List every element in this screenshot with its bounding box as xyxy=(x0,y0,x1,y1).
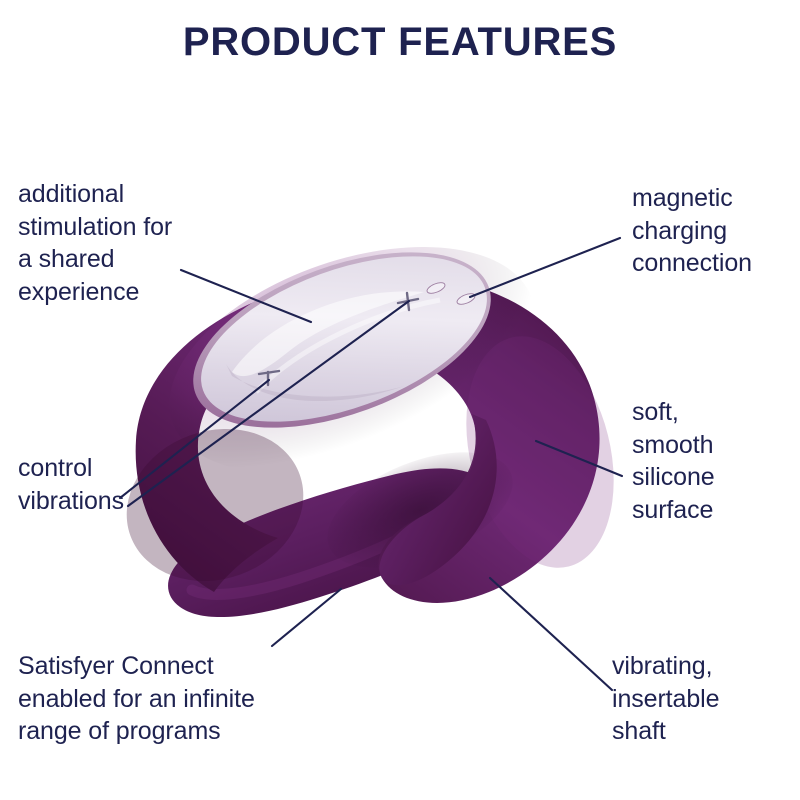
leader-additional-stimulation xyxy=(181,270,311,322)
callout-line: range of programs xyxy=(18,715,255,748)
callout-line: soft, xyxy=(632,396,715,429)
panel-glare-line xyxy=(256,300,440,392)
magnetic-charging-pins xyxy=(426,281,477,307)
ring-arm xyxy=(379,414,496,585)
leader-satisfyer-connect xyxy=(272,589,341,646)
page-title: PRODUCT FEATURES xyxy=(0,20,800,64)
callout-line: a shared xyxy=(18,243,172,276)
callout-line: magnetic xyxy=(632,182,752,215)
ring-surface xyxy=(136,274,600,603)
panel-inner-shade xyxy=(226,364,404,401)
leader-vibrating-shaft xyxy=(490,578,612,690)
callout-line: enabled for an infinite xyxy=(18,683,255,716)
main-ring xyxy=(105,204,636,606)
callout-line: insertable xyxy=(612,683,719,716)
minus-button-icon[interactable] xyxy=(259,371,279,385)
callout-soft-smooth-silicone: soft, smooth silicone surface xyxy=(632,396,715,526)
inner-gap-shading xyxy=(311,429,529,591)
callout-line: surface xyxy=(632,494,715,527)
product-features-infographic: PRODUCT FEATURES xyxy=(0,0,800,800)
callout-line: control xyxy=(18,452,124,485)
right-lobe-highlight xyxy=(444,321,637,584)
callout-line: smooth xyxy=(632,429,715,462)
callout-vibrating-shaft: vibrating, insertable shaft xyxy=(612,650,719,748)
charging-pin-1 xyxy=(426,281,447,296)
leader-control-vibrations-minus xyxy=(120,380,269,498)
callout-line: stimulation for xyxy=(18,211,172,244)
leader-lines xyxy=(120,238,622,690)
control-panel[interactable] xyxy=(170,217,514,463)
callout-line: silicone xyxy=(632,461,715,494)
callout-line: vibrating, xyxy=(612,650,719,683)
leader-magnetic-charging xyxy=(470,238,620,297)
leader-control-vibrations-plus xyxy=(128,301,409,506)
callout-satisfyer-connect: Satisfyer Connect enabled for an infinit… xyxy=(18,650,255,748)
callout-line: connection xyxy=(632,247,752,280)
shaft-surface xyxy=(168,468,500,617)
panel-rim xyxy=(170,217,514,463)
callout-line: shaft xyxy=(612,715,719,748)
panel-glare xyxy=(232,291,424,376)
top-sheen xyxy=(140,204,564,517)
lower-left-shadow xyxy=(105,405,325,606)
callout-line: vibrations xyxy=(18,485,124,518)
callout-additional-stimulation: additional stimulation for a shared expe… xyxy=(18,178,172,308)
callout-control-vibrations: control vibrations xyxy=(18,452,124,517)
charging-pin-2 xyxy=(456,292,477,307)
panel-face xyxy=(179,223,508,455)
product-body xyxy=(105,204,636,617)
callout-line: additional xyxy=(18,178,172,211)
shaft-highlight xyxy=(192,494,470,594)
callout-line: Satisfyer Connect xyxy=(18,650,255,683)
callout-line: charging xyxy=(632,215,752,248)
callout-magnetic-charging: magnetic charging connection xyxy=(632,182,752,280)
callout-line: experience xyxy=(18,276,172,309)
insertable-shaft xyxy=(168,468,500,617)
leader-soft-smooth-silicone xyxy=(536,441,622,476)
plus-button-icon[interactable] xyxy=(398,293,418,310)
